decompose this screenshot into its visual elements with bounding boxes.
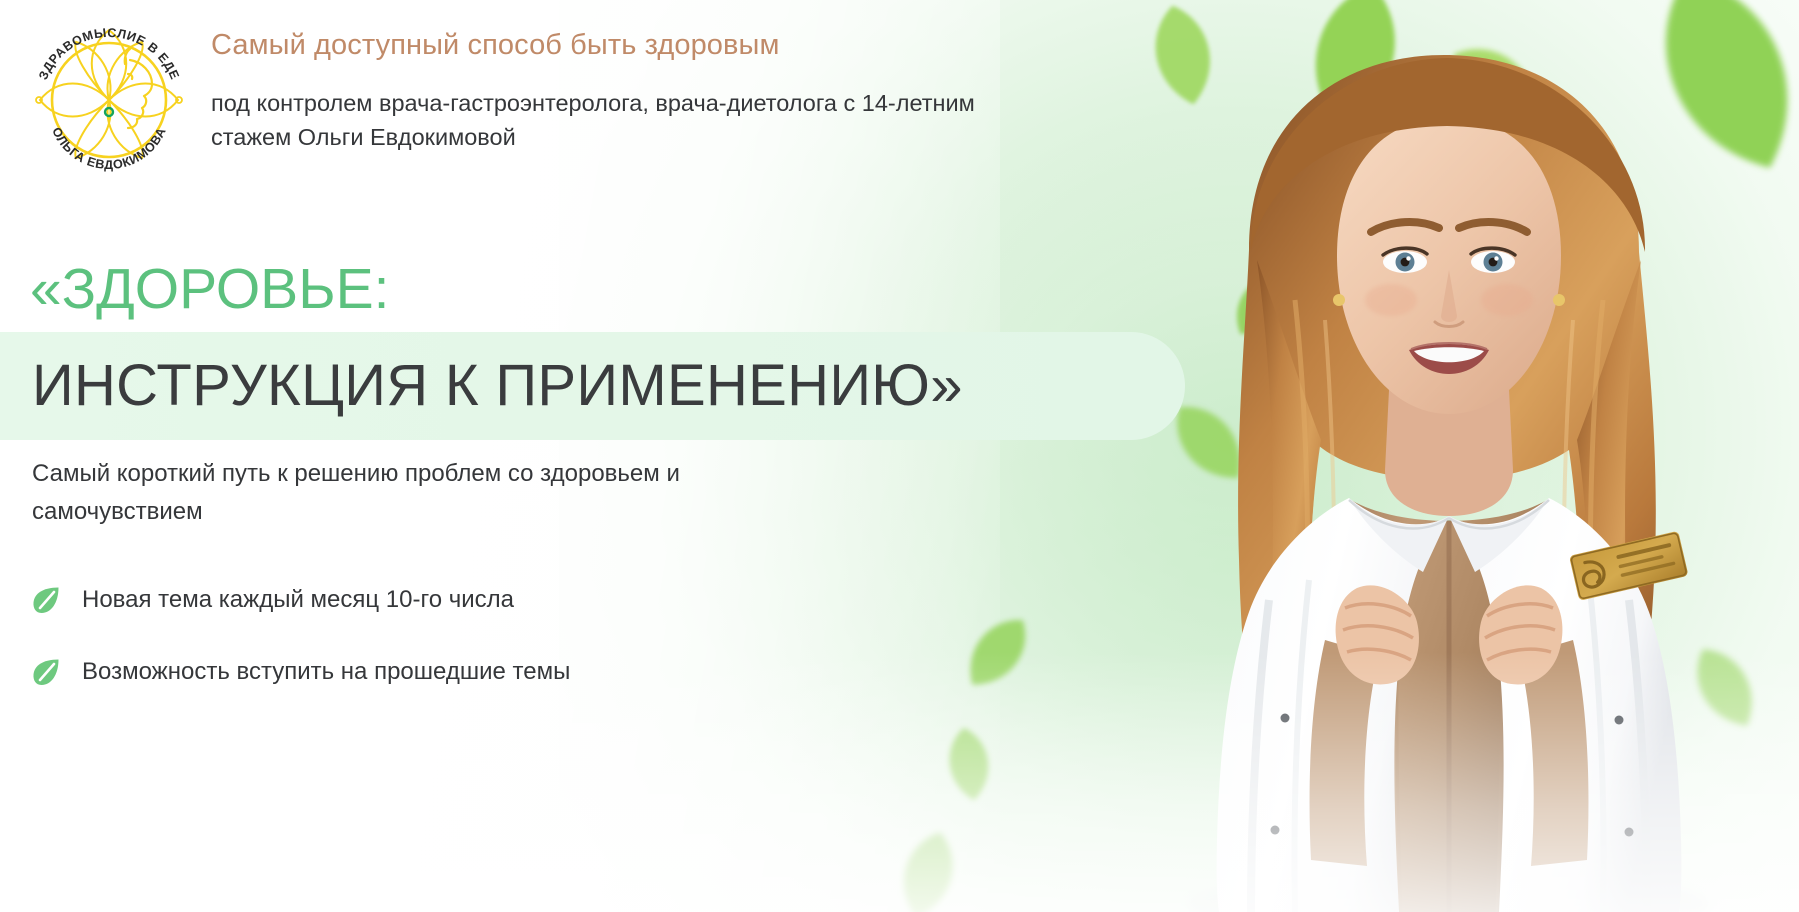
headline-line-1: «ЗДОРОВЬЕ:: [30, 257, 389, 321]
benefit-label: Новая тема каждый месяц 10-го числа: [82, 585, 514, 615]
leaf-icon: [30, 583, 64, 617]
tagline: Самый доступный способ быть здоровым: [211, 27, 780, 63]
benefits-list: Новая тема каждый месяц 10-го числа Возм…: [30, 578, 790, 722]
logo-arc-bottom-text: ОЛЬГА ЕВДОКИМОВА: [49, 125, 169, 172]
benefit-label: Возможность вступить на прошедшие темы: [82, 657, 570, 687]
benefit-item: Возможность вступить на прошедшие темы: [30, 650, 790, 694]
subtitle: под контролем врача-гастроэнтеролога, вр…: [211, 86, 991, 154]
benefit-item: Новая тема каждый месяц 10-го числа: [30, 578, 790, 622]
hero-description: Самый короткий путь к решению проблем со…: [32, 455, 792, 531]
brand-logo[interactable]: ЗДРАВОМЫСЛИЕ В ЕДЕ ОЛЬГА ЕВДОКИМОВА: [24, 12, 194, 180]
headline-line-2: ИНСТРУКЦИЯ К ПРИМЕНЕНИЮ»: [32, 345, 963, 427]
svg-text:ОЛЬГА ЕВДОКИМОВА: ОЛЬГА ЕВДОКИМОВА: [49, 125, 169, 172]
leaf-icon: [30, 655, 64, 689]
hero-banner: ЗДРАВОМЫСЛИЕ В ЕДЕ ОЛЬГА ЕВДОКИМОВА Самы…: [0, 0, 1799, 912]
